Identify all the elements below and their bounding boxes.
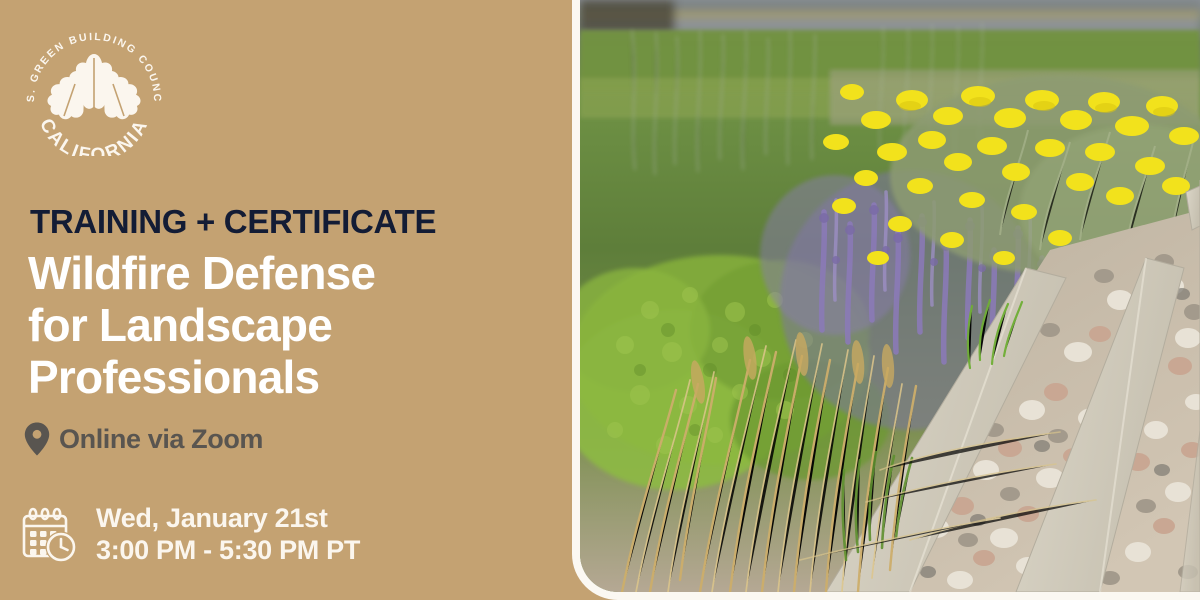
- usgbc-california-logo: U.S. GREEN BUILDING COUNCIL CALIFORNIA: [18, 24, 170, 156]
- eyebrow-label: TRAINING + CERTIFICATE: [30, 205, 436, 238]
- location-label: Online via Zoom: [59, 426, 263, 453]
- datetime-text-block: Wed, January 21st 3:00 PM - 5:30 PM PT: [96, 503, 360, 567]
- left-content-panel: U.S. GREEN BUILDING COUNCIL CALIFORNIA: [0, 0, 573, 600]
- headline-line-2: for Landscape: [28, 300, 548, 352]
- headline-line-1: Wildfire Defense: [28, 248, 548, 300]
- photo-frame: [572, 0, 1200, 600]
- event-banner: U.S. GREEN BUILDING COUNCIL CALIFORNIA: [0, 0, 1200, 600]
- map-pin-icon: [24, 422, 50, 456]
- headline-line-3: Professionals: [28, 352, 548, 404]
- event-date: Wed, January 21st: [96, 503, 360, 534]
- event-time: 3:00 PM - 5:30 PM PT: [96, 535, 360, 566]
- page-title: Wildfire Defense for Landscape Professio…: [28, 248, 548, 404]
- garden-photo: [580, 0, 1200, 592]
- location-row: Online via Zoom: [24, 422, 263, 456]
- svg-text:CALIFORNIA: CALIFORNIA: [35, 115, 153, 156]
- datetime-row: Wed, January 21st 3:00 PM - 5:30 PM PT: [20, 503, 360, 567]
- logo-arc-bottom-text: CALIFORNIA: [35, 115, 153, 156]
- calendar-clock-icon: [20, 505, 80, 565]
